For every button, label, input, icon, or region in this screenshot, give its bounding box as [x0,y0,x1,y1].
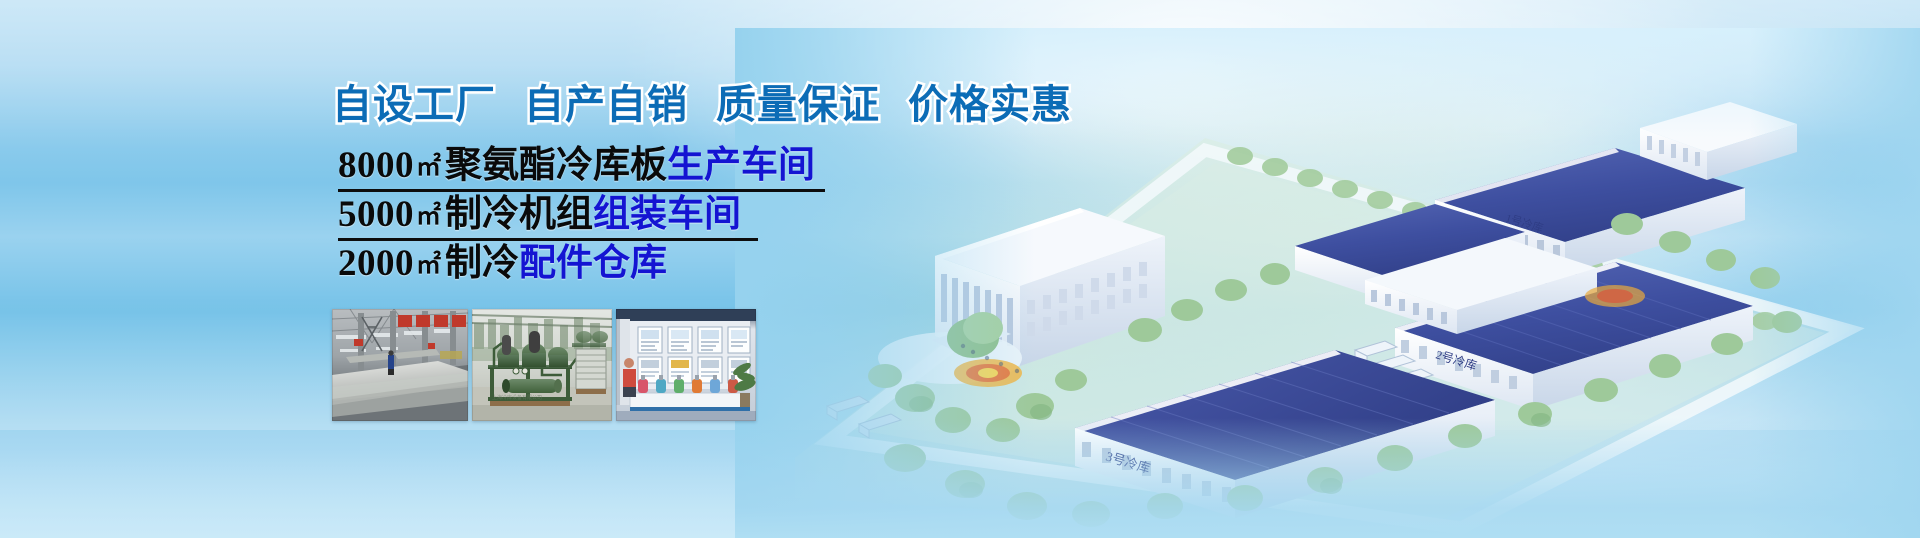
feature-line-1-text: 聚氨酯冷库板 [445,145,667,186]
illustration-fade-right [1750,28,1920,538]
feature-line-2-unit: ㎡ [416,202,441,230]
feature-line-3-unit: ㎡ [416,251,441,279]
illustration-fade-bottom [735,418,1920,538]
feature-line-2-highlight: 组装车间 [593,194,741,235]
flower-bed [1585,285,1645,307]
panel-production-workshop-photo [332,309,468,421]
feature-line-1-unit: ㎡ [416,153,441,181]
feature-line-3-text: 制冷 [445,243,519,284]
banner-headline: 自设工厂自产自销质量保证价格实惠 [332,72,1032,124]
exhibition-booth-photo [616,309,756,421]
headline-segment-1: 自设工厂 [332,83,496,127]
feature-lines: 8000㎡聚氨酯冷库板生产车间 5000㎡制冷机组组装车间 2000㎡制冷配件仓… [338,142,898,289]
svg-text:上海冷库设备有限公司: 上海冷库设备有限公司 [492,394,542,401]
headline-segment-4: 价格实惠 [908,83,1072,127]
feature-line-1-number: 8000 [338,145,414,186]
feature-line-2-text: 制冷机组 [445,194,593,235]
refrigeration-compressor-units-photo: 上海冷库设备有限公司 [472,309,612,421]
headline-segment-2: 自产自销 [524,83,688,127]
feature-line-3-number: 2000 [338,243,414,284]
promo-banner: 1号冷库 [0,0,1920,538]
photo-strip: 上海冷库设备有限公司 [332,309,756,421]
feature-line-1: 8000㎡聚氨酯冷库板生产车间 [338,142,898,191]
feature-line-2: 5000㎡制冷机组组装车间 [338,191,898,240]
headline-segment-3: 质量保证 [716,83,880,127]
feature-line-3: 2000㎡制冷配件仓库 [338,240,898,289]
feature-line-1-highlight: 生产车间 [667,145,815,186]
feature-line-2-number: 5000 [338,194,414,235]
feature-line-3-highlight: 配件仓库 [519,243,667,284]
